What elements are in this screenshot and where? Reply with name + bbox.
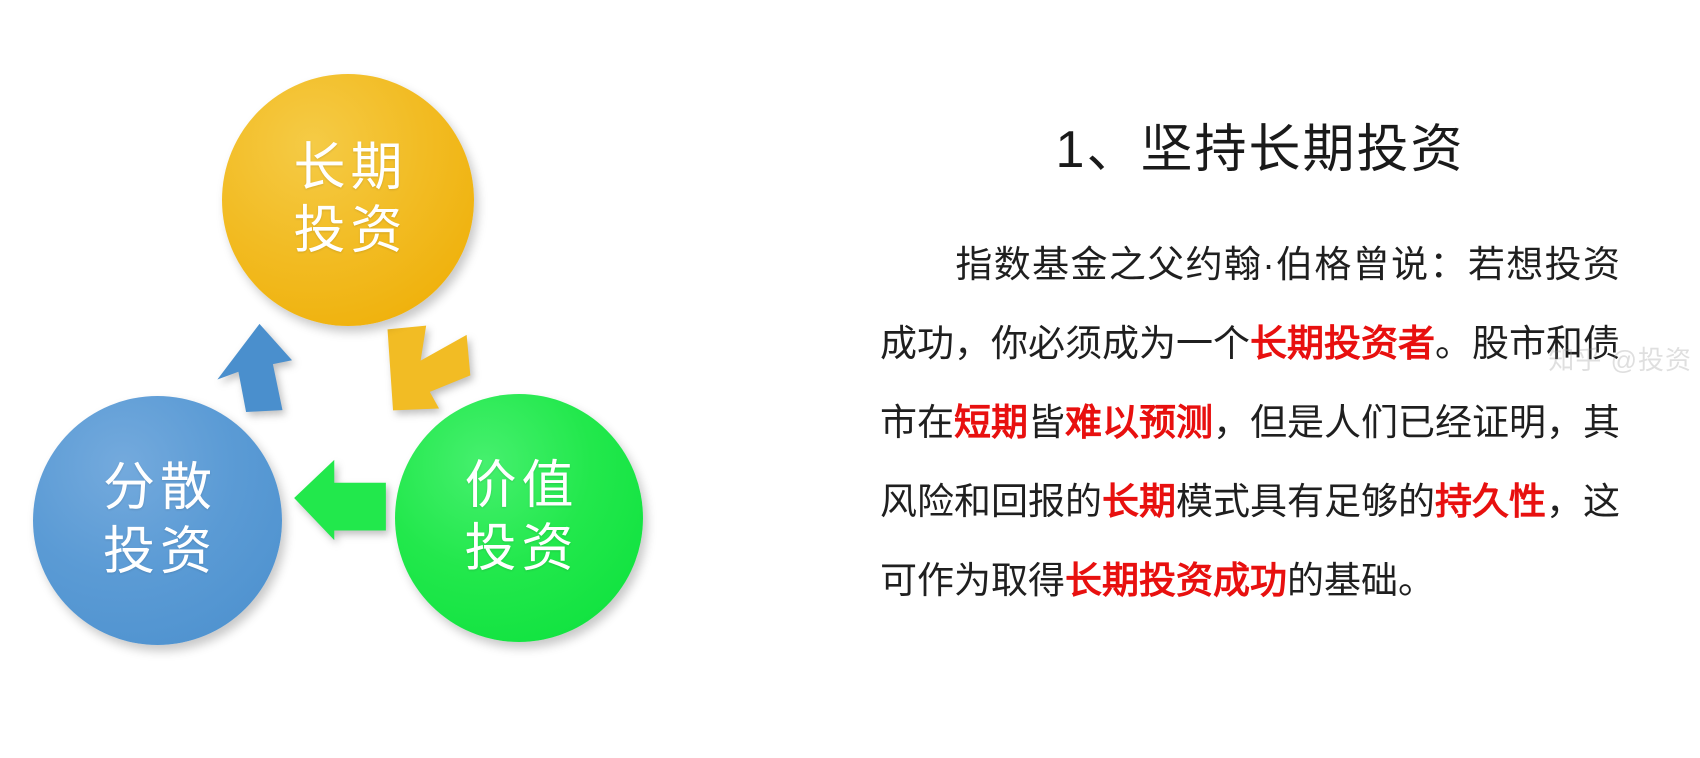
body-text-run: 皆: [1028, 402, 1065, 443]
body-text-run: 的基础。: [1287, 560, 1435, 601]
bubble-value-investing[interactable]: 价值 投资: [395, 394, 643, 642]
highlighted-term: 长期投资者: [1250, 323, 1435, 364]
highlighted-term: 短期: [954, 402, 1028, 443]
bubble-long-term-line2: 投资: [288, 200, 407, 263]
highlighted-term: 长期投资成功: [1065, 560, 1287, 601]
slide-root: 长期 投资 分散 投资 价值 投资 1、坚持长期投资 指数基金之父约翰·伯格曾说…: [0, 0, 1700, 758]
bubble-value-line1: 价值: [459, 455, 578, 518]
bubble-long-term-line1: 长期: [288, 137, 407, 200]
watermark: 知乎 @投资: [1548, 340, 1692, 377]
investment-principles-cycle-diagram: 长期 投资 分散 投资 价值 投资: [0, 0, 820, 758]
highlighted-term: 持久性: [1435, 481, 1546, 522]
highlighted-term: 难以预测: [1065, 402, 1213, 443]
bubble-diversified-line2: 投资: [98, 521, 217, 584]
yellow-arrow-down-right-icon: [382, 322, 474, 414]
bubble-value-line2: 投资: [459, 518, 578, 581]
green-arrow-left-icon: [292, 456, 388, 542]
bubble-diversified-investing[interactable]: 分散 投资: [33, 396, 282, 645]
body-paragraph: 指数基金之父约翰·伯格曾说：若想投资成功，你必须成为一个长期投资者。股市和债市在…: [880, 225, 1620, 620]
blue-arrow-up-right-icon: [200, 322, 296, 412]
highlighted-term: 长期: [1102, 481, 1176, 522]
bubble-diversified-line1: 分散: [98, 457, 217, 520]
diagram-panel: 长期 投资 分散 投资 价值 投资: [0, 0, 820, 758]
bubble-long-term-investing[interactable]: 长期 投资: [222, 74, 474, 326]
body-text-run: 模式具有足够的: [1176, 481, 1435, 522]
text-panel: 1、坚持长期投资 指数基金之父约翰·伯格曾说：若想投资成功，你必须成为一个长期投…: [820, 0, 1700, 758]
page-title: 1、坚持长期投资: [820, 107, 1700, 182]
